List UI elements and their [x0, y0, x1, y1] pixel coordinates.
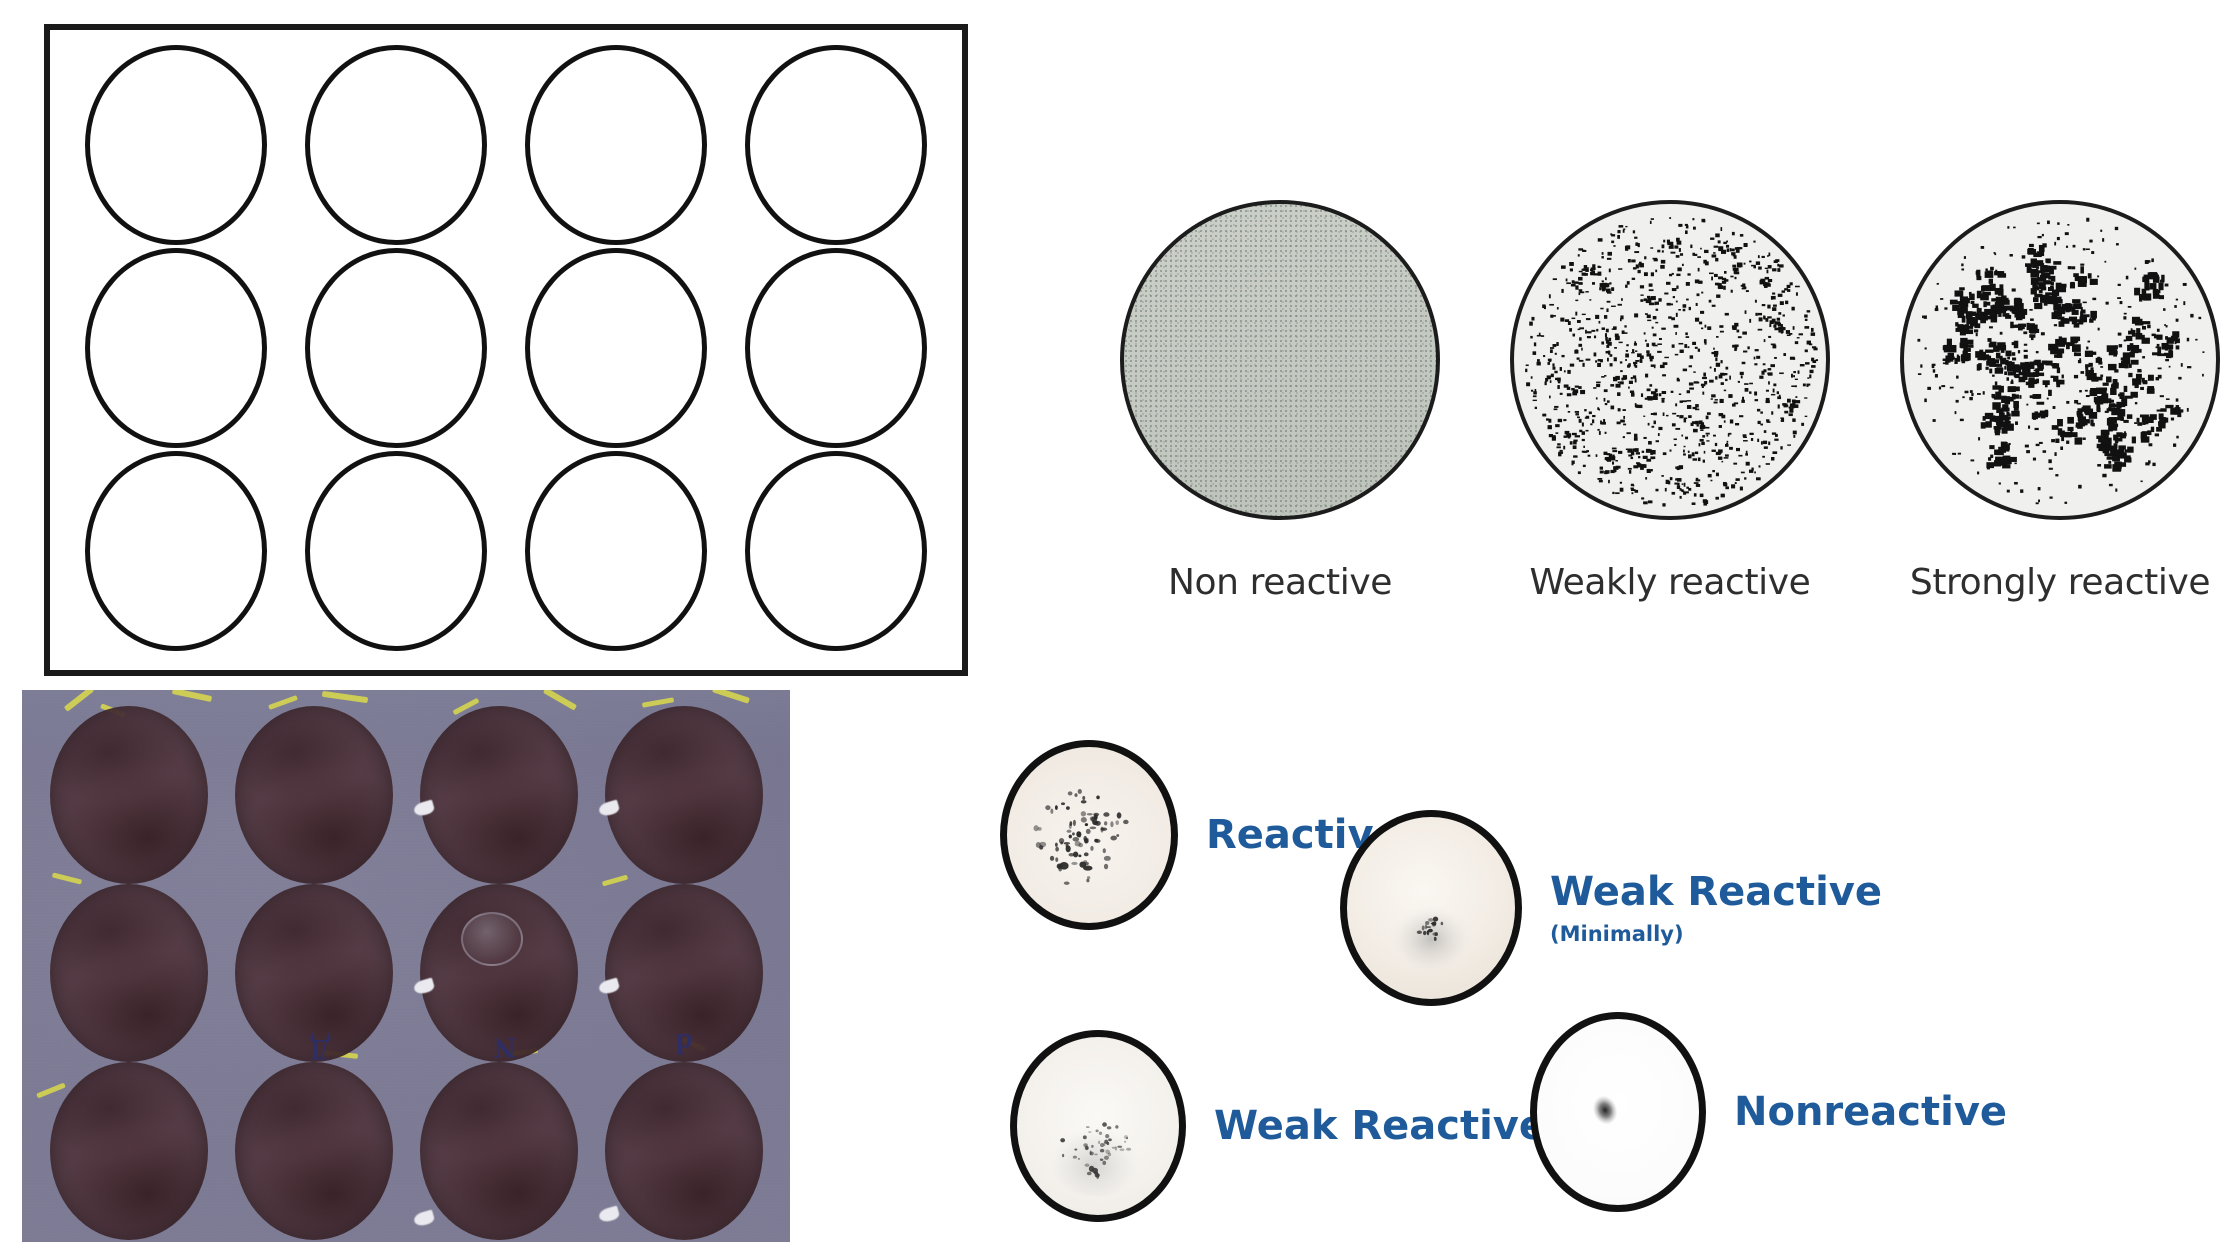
- nonreactive-well: [1530, 1012, 1706, 1212]
- blank-well-cell: [286, 247, 506, 450]
- photo-well-cell: [221, 706, 406, 884]
- blank-well-cell: [66, 247, 286, 450]
- photo-well-cell: [591, 706, 776, 884]
- specular-glint: [597, 800, 620, 818]
- strongly-reactive-label: Strongly reactive: [1910, 562, 2210, 603]
- reactive-clump-pattern: [1007, 747, 1171, 923]
- photo-well-A4: [605, 706, 763, 884]
- blank-well-A1: [85, 45, 267, 245]
- schematic-item-non-reactive: Non reactive: [1120, 200, 1440, 603]
- blank-well-cell: [506, 44, 726, 247]
- weakly-reactive-speckle-pattern: [1514, 204, 1826, 516]
- blank-well-cell: [286, 44, 506, 247]
- photo-well-A3: [420, 706, 578, 884]
- nonreactive-label-block: Nonreactive: [1734, 1090, 2007, 1134]
- blank-well-C4: [745, 451, 927, 651]
- pen-mark-3: d: [676, 1026, 693, 1060]
- nonreactive-center-dot: [1537, 1019, 1699, 1205]
- blank-well-A2: [305, 45, 487, 245]
- blank-well-grid: [50, 30, 962, 670]
- blank-well-C1: [85, 451, 267, 651]
- photo-well-cell: [36, 706, 221, 884]
- weak-reactive-well: [1010, 1030, 1186, 1222]
- blank-well-B4: [745, 248, 927, 448]
- blank-well-cell: [726, 44, 946, 247]
- photo-well-cell: [36, 884, 221, 1062]
- blank-well-B2: [305, 248, 487, 448]
- used-test-card-photo-panel: Д N d: [22, 690, 790, 1242]
- blank-well-C3: [525, 451, 707, 651]
- blank-well-cell: [66, 449, 286, 652]
- photo-well-cell: [406, 706, 591, 884]
- photowell-item-weak-reactive: Weak Reactive: [1010, 1030, 1546, 1222]
- blank-well-cell: [66, 44, 286, 247]
- photo-well-C2: [235, 1062, 393, 1240]
- nonreactive-label: Nonreactive: [1734, 1090, 2007, 1134]
- specular-glint: [412, 978, 435, 996]
- weakly-reactive-label: Weakly reactive: [1530, 562, 1811, 603]
- blank-well-cell: [726, 247, 946, 450]
- blank-well-cell: [726, 449, 946, 652]
- weak-reactive-minimally-label-block: Weak Reactive (Minimally): [1550, 870, 1882, 946]
- specular-glint: [412, 1209, 435, 1227]
- pen-mark-1: Д: [310, 1032, 331, 1066]
- photowell-item-nonreactive: Nonreactive: [1530, 1012, 2007, 1212]
- weak-reactive-minimally-well: [1340, 810, 1522, 1006]
- photo-well-cell: [406, 1062, 591, 1240]
- blank-well-cell: [286, 449, 506, 652]
- photo-well-cell: [221, 1062, 406, 1240]
- weakly-reactive-circle: [1510, 200, 1830, 520]
- specular-glint: [597, 978, 620, 996]
- photo-well-cell: [591, 1062, 776, 1240]
- specular-glint: [597, 1205, 620, 1223]
- weak-reactive-minimally-sublabel: (Minimally): [1550, 922, 1882, 946]
- photo-well-cell: [36, 1062, 221, 1240]
- reactive-well: [1000, 740, 1178, 930]
- strongly-reactive-clump-pattern: [1904, 204, 2216, 516]
- weak-reactive-label-block: Weak Reactive: [1214, 1104, 1546, 1148]
- photo-well-C1: [50, 1062, 208, 1240]
- blank-well-B1: [85, 248, 267, 448]
- weak-reactive-minimally-label: Weak Reactive: [1550, 870, 1882, 914]
- pen-mark-2: N: [494, 1030, 516, 1064]
- non-reactive-circle: [1120, 200, 1440, 520]
- blank-well-A3: [525, 45, 707, 245]
- photo-well-C3: [420, 1062, 578, 1240]
- blank-well-A4: [745, 45, 927, 245]
- strongly-reactive-circle: [1900, 200, 2220, 520]
- air-bubble: [461, 912, 523, 966]
- photo-well-A1: [50, 706, 208, 884]
- photo-well-C4: [605, 1062, 763, 1240]
- blank-well-C2: [305, 451, 487, 651]
- weak-reactive-clump-pattern: [1017, 1037, 1179, 1215]
- blank-well-cell: [506, 247, 726, 450]
- photo-well-B1: [50, 884, 208, 1062]
- blank-test-card-panel: [44, 24, 968, 676]
- schematic-item-weakly-reactive: Weakly reactive: [1510, 200, 1830, 603]
- schematic-row: Non reactive Weakly reactive: [1120, 200, 2220, 603]
- blank-well-cell: [506, 449, 726, 652]
- weak-reactive-label: Weak Reactive: [1214, 1104, 1546, 1148]
- non-reactive-label: Non reactive: [1168, 562, 1392, 603]
- figure-root: Д N d Non reactive Weakly reactive: [0, 0, 2240, 1260]
- photo-well-A2: [235, 706, 393, 884]
- photowell-item-weak-reactive-minimally: Weak Reactive (Minimally): [1340, 810, 1882, 1006]
- schematic-grades-panel: Non reactive Weakly reactive: [1120, 200, 2220, 680]
- specular-glint: [412, 800, 435, 818]
- weak-minimal-clump-pattern: [1347, 817, 1515, 999]
- photo-well-grid: [22, 690, 790, 1242]
- schematic-item-strongly-reactive: Strongly reactive: [1900, 200, 2220, 603]
- blank-well-B3: [525, 248, 707, 448]
- photo-reaction-examples-panel: Reactive: [1000, 730, 2220, 1250]
